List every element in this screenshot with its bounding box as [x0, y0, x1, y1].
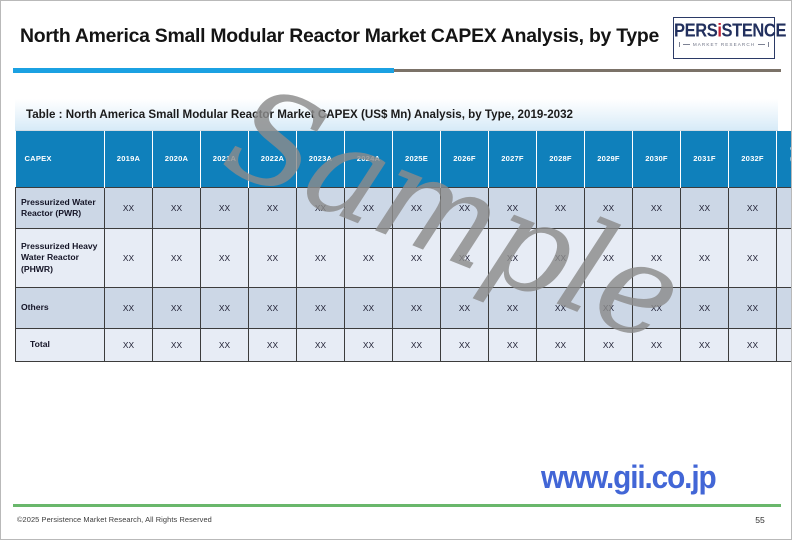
cell: XX — [633, 288, 681, 329]
cell: XX — [585, 188, 633, 229]
page-number: 55 — [745, 515, 775, 525]
table-row: Others XX XX XX XX XX XX XX XX XX XX XX … — [16, 288, 792, 329]
col-header-2027f: 2027F — [489, 131, 537, 188]
cell: XX — [297, 329, 345, 362]
page-title: North America Small Modular Reactor Mark… — [20, 25, 660, 48]
logo-rule-cap-left — [679, 42, 680, 47]
col-header-2030f: 2030F — [633, 131, 681, 188]
row-label-pwr: Pressurized Water Reactor (PWR) — [16, 188, 105, 229]
cell: XX — [633, 188, 681, 229]
cell: XX — [393, 188, 441, 229]
cell: XX — [345, 288, 393, 329]
cell: XX — [345, 229, 393, 288]
table-row: Pressurized Heavy Water Reactor (PHWR) X… — [16, 229, 792, 288]
cell: XX — [249, 188, 297, 229]
cell: XX — [105, 229, 153, 288]
copyright-notice: ©2025 Persistence Market Research, All R… — [17, 515, 212, 524]
cell: XX — [297, 288, 345, 329]
table-row: Total XX XX XX XX XX XX XX XX XX XX XX X… — [16, 329, 792, 362]
cell: XX — [537, 288, 585, 329]
cell: XX — [441, 288, 489, 329]
logo-word-part2: STENCE — [722, 21, 787, 41]
logo-rule-left — [683, 44, 690, 45]
col-header-2025e: 2025E — [393, 131, 441, 188]
cell: XX — [585, 288, 633, 329]
col-header-2032f: 2032F — [729, 131, 777, 188]
cell: XX — [729, 329, 777, 362]
cell: XX — [153, 229, 201, 288]
cell: XX — [441, 229, 489, 288]
cell: XX — [153, 329, 201, 362]
cell: XX — [153, 288, 201, 329]
logo-wordmark: PERSiSTENCE — [674, 21, 774, 41]
cell: XX — [489, 329, 537, 362]
table-row: Pressurized Water Reactor (PWR) XX XX XX… — [16, 188, 792, 229]
cell: XX — [681, 229, 729, 288]
col-header-2020a: 2020A — [153, 131, 201, 188]
cell: XX — [441, 329, 489, 362]
site-url[interactable]: www.gii.co.jp — [541, 459, 716, 496]
cell: XX — [777, 288, 792, 329]
header-divider — [13, 68, 781, 73]
header-divider-gray-segment — [394, 69, 781, 72]
cell: XX — [489, 288, 537, 329]
cell: XX — [105, 288, 153, 329]
cell: XX — [153, 188, 201, 229]
slide-header: North America Small Modular Reactor Mark… — [1, 1, 792, 79]
cell: XX — [249, 329, 297, 362]
logo-rule-right — [758, 44, 765, 45]
cell: XX — [105, 329, 153, 362]
footer-divider — [13, 504, 781, 507]
cell: XX — [249, 229, 297, 288]
cell: XX — [345, 188, 393, 229]
cell: XX — [201, 288, 249, 329]
cell: XX — [633, 329, 681, 362]
cell: XX — [777, 229, 792, 288]
col-header-2023a: 2023A — [297, 131, 345, 188]
cell: XX — [537, 229, 585, 288]
cell: XX — [681, 188, 729, 229]
cell: XX — [105, 188, 153, 229]
col-header-2029f: 2029F — [585, 131, 633, 188]
cell: XX — [393, 288, 441, 329]
logo-word-part1: PERS — [674, 21, 717, 41]
table-header-row: CAPEX 2019A 2020A 2021A 2022A 2023A 2024… — [16, 131, 792, 188]
slide-canvas: North America Small Modular Reactor Mark… — [0, 0, 792, 540]
cell: XX — [201, 188, 249, 229]
table-block: Table : North America Small Modular Reac… — [15, 99, 778, 362]
cell: XX — [633, 229, 681, 288]
cell: XX — [249, 288, 297, 329]
cell: XX — [729, 188, 777, 229]
cell: XX — [201, 229, 249, 288]
capex-table-body: Pressurized Water Reactor (PWR) XX XX XX… — [16, 188, 792, 362]
cell: XX — [489, 188, 537, 229]
cell: XX — [537, 329, 585, 362]
cell: XX — [393, 329, 441, 362]
cell: XX — [489, 229, 537, 288]
cell: XX — [201, 329, 249, 362]
persistence-logo: PERSiSTENCE MARKET RESEARCH — [673, 17, 775, 59]
cell: XX — [729, 288, 777, 329]
row-label-phwr: Pressurized Heavy Water Reactor (PHWR) — [16, 229, 105, 288]
logo-rule-cap-right — [768, 42, 769, 47]
col-header-2019a: 2019A — [105, 131, 153, 188]
cell: XX — [729, 229, 777, 288]
row-label-total: Total — [16, 329, 105, 362]
cell: XX — [777, 188, 792, 229]
col-header-2024a: 2024A — [345, 131, 393, 188]
col-header-capex: CAPEX — [16, 131, 105, 188]
logo-tagline: MARKET RESEARCH — [693, 42, 755, 47]
header-divider-blue-segment — [13, 68, 394, 73]
cell: XX — [585, 329, 633, 362]
cell: XX — [345, 329, 393, 362]
cell: XX — [777, 329, 792, 362]
cell: XX — [585, 229, 633, 288]
row-label-others: Others — [16, 288, 105, 329]
table-caption: Table : North America Small Modular Reac… — [15, 99, 778, 131]
cell: XX — [681, 329, 729, 362]
col-header-cagr: CAGR (2025- 2032) — [777, 131, 792, 188]
capex-table: CAPEX 2019A 2020A 2021A 2022A 2023A 2024… — [15, 131, 792, 362]
cell: XX — [537, 188, 585, 229]
col-header-2028f: 2028F — [537, 131, 585, 188]
col-header-2022a: 2022A — [249, 131, 297, 188]
logo-tagline-row: MARKET RESEARCH — [674, 42, 774, 47]
cell: XX — [297, 229, 345, 288]
cell: XX — [393, 229, 441, 288]
cell: XX — [441, 188, 489, 229]
col-header-2026f: 2026F — [441, 131, 489, 188]
col-header-2021a: 2021A — [201, 131, 249, 188]
cell: XX — [297, 188, 345, 229]
col-header-2031f: 2031F — [681, 131, 729, 188]
cell: XX — [681, 288, 729, 329]
